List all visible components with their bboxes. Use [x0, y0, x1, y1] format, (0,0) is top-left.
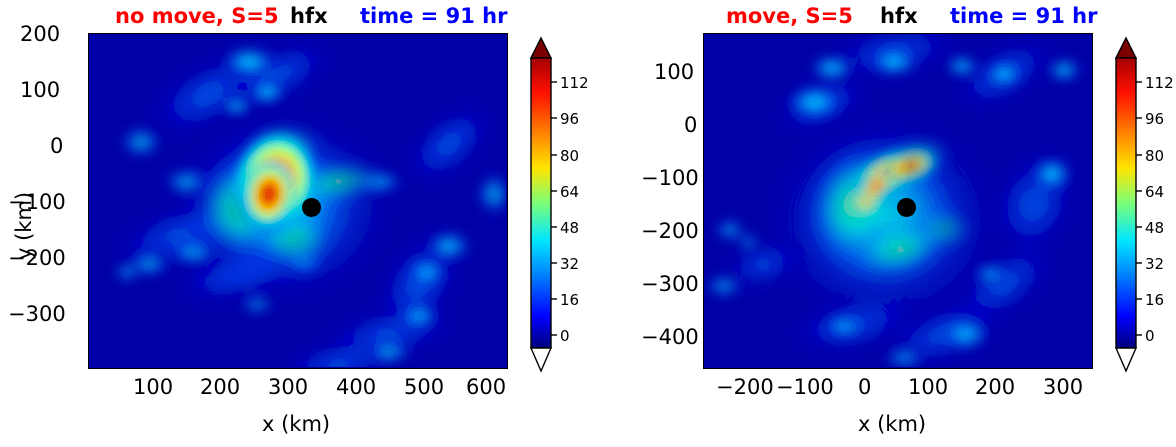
right-ytick-2: −100 — [641, 166, 699, 190]
left-ytick-5: −300 — [8, 302, 66, 326]
right-ytick-1: 0 — [684, 113, 697, 137]
right-xtick-2: 0 — [858, 375, 871, 399]
left-title-variable: hfx — [290, 4, 328, 28]
left-ytick-0: 200 — [20, 22, 60, 46]
left-title-case: no move, S=5 — [115, 4, 279, 28]
right-ytick-0: 100 — [654, 60, 694, 84]
right-xtick-1: −100 — [776, 375, 834, 399]
left-cbtick-16: 16 — [560, 291, 579, 309]
right-cbtick-112: 112 — [1145, 74, 1174, 92]
left-xtick-4: 500 — [404, 375, 444, 399]
right-ytick-5: −400 — [641, 325, 699, 349]
left-xtick-0: 100 — [133, 375, 173, 399]
right-cbtick-48: 48 — [1145, 219, 1164, 237]
left-xaxis-label: x (km) — [262, 412, 330, 436]
left-cbtick-112: 112 — [560, 74, 589, 92]
left-heatmap-field — [89, 34, 506, 367]
right-cbtick-80: 80 — [1145, 147, 1164, 165]
left-cbtick-64: 64 — [560, 183, 579, 201]
right-colorbar[interactable]: 112 96 80 64 48 32 16 0 — [1113, 33, 1139, 373]
left-xtick-2: 300 — [268, 375, 308, 399]
left-storm-center-marker — [302, 198, 321, 217]
left-plot-area[interactable] — [88, 33, 508, 369]
right-title-case: move, S=5 — [726, 4, 853, 28]
right-title-variable: hfx — [880, 4, 918, 28]
right-xtick-0: −200 — [716, 375, 774, 399]
right-ytick-3: −200 — [641, 219, 699, 243]
right-storm-center-marker — [897, 198, 916, 217]
left-cbtick-48: 48 — [560, 219, 579, 237]
left-cbtick-80: 80 — [560, 147, 579, 165]
right-cbtick-64: 64 — [1145, 183, 1164, 201]
right-xtick-4: 200 — [975, 375, 1015, 399]
left-xtick-1: 200 — [200, 375, 240, 399]
left-cbtick-96: 96 — [560, 110, 579, 128]
right-ytick-4: −300 — [641, 272, 699, 296]
right-title-time: time = 91 hr — [950, 4, 1097, 28]
left-ytick-2: 0 — [50, 134, 63, 158]
figure-canvas: no move, S=5 hfx time = 91 hr — [0, 0, 1176, 447]
left-yaxis-label: y (km) — [12, 192, 36, 260]
left-cbtick-0: 0 — [560, 327, 570, 345]
right-cbtick-96: 96 — [1145, 110, 1164, 128]
right-cbtick-32: 32 — [1145, 255, 1164, 273]
right-xtick-5: 300 — [1043, 375, 1083, 399]
right-xtick-3: 100 — [908, 375, 948, 399]
left-cbtick-32: 32 — [560, 255, 579, 273]
right-xaxis-label: x (km) — [858, 412, 926, 436]
right-cbtick-0: 0 — [1145, 327, 1155, 345]
right-plot-area[interactable] — [703, 33, 1093, 369]
left-title-time: time = 91 hr — [360, 4, 507, 28]
left-xtick-5: 600 — [466, 375, 506, 399]
right-heatmap-field — [704, 34, 1091, 367]
left-ytick-1: 100 — [20, 78, 60, 102]
right-cbtick-16: 16 — [1145, 291, 1164, 309]
left-xtick-3: 400 — [336, 375, 376, 399]
left-colorbar[interactable]: 112 96 80 64 48 32 16 0 — [528, 33, 554, 373]
